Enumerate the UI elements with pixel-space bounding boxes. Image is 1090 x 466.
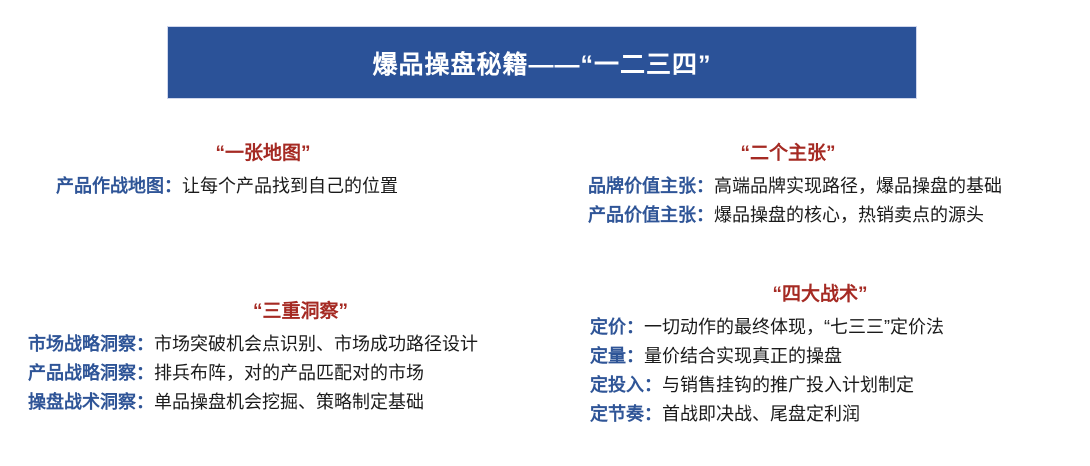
list-item: 定价：一切动作的最终体现，“七三三”定价法 xyxy=(590,313,1090,342)
item-value: 首战即决战、尾盘定利润 xyxy=(662,404,860,424)
list-item: 市场战略洞察：市场突破机会点识别、市场成功路径设计 xyxy=(28,330,548,359)
section-lines-three-insights: 市场战略洞察：市场突破机会点识别、市场成功路径设计 产品战略洞察：排兵布阵，对的… xyxy=(28,330,548,417)
item-label: 产品战略洞察： xyxy=(28,363,154,383)
list-item: 定节奏：首战即决战、尾盘定利润 xyxy=(590,400,1090,429)
item-value: 量价结合实现真正的操盘 xyxy=(644,346,842,366)
item-label: 定价： xyxy=(590,317,644,337)
item-value: 单品操盘机会挖掘、策略制定基础 xyxy=(154,392,424,412)
item-label: 定投入： xyxy=(590,375,662,395)
item-label: 品牌价值主张： xyxy=(588,176,714,196)
item-label: 操盘战术洞察： xyxy=(28,392,154,412)
item-label: 定节奏： xyxy=(590,404,662,424)
item-label: 产品作战地图： xyxy=(56,176,182,196)
item-value: 爆品操盘的核心，热销卖点的源头 xyxy=(714,205,984,225)
item-label: 定量： xyxy=(590,346,644,366)
section-two-claims: “二个主张” 品牌价值主张：高端品牌实现路径，爆品操盘的基础 产品价值主张：爆品… xyxy=(588,142,1088,230)
item-value: 与销售挂钩的推广投入计划制定 xyxy=(662,375,914,395)
section-heading-three-insights: “三重洞察” xyxy=(28,300,573,324)
section-heading-four-tactics: “四大战术” xyxy=(590,283,1050,307)
section-lines-four-tactics: 定价：一切动作的最终体现，“七三三”定价法 定量：量价结合实现真正的操盘 定投入… xyxy=(590,313,1090,429)
section-one-map: “一张地图” 产品作战地图：让每个产品找到自己的位置 xyxy=(28,142,528,201)
list-item: 定量：量价结合实现真正的操盘 xyxy=(590,342,1090,371)
list-item: 品牌价值主张：高端品牌实现路径，爆品操盘的基础 xyxy=(588,172,1088,201)
list-item: 产品战略洞察：排兵布阵，对的产品匹配对的市场 xyxy=(28,359,548,388)
title-banner: 爆品操盘秘籍——“一二三四” xyxy=(167,26,917,99)
section-heading-one-map: “一张地图” xyxy=(28,142,498,166)
list-item: 产品作战地图：让每个产品找到自己的位置 xyxy=(56,172,528,201)
section-four-tactics: “四大战术” 定价：一切动作的最终体现，“七三三”定价法 定量：量价结合实现真正… xyxy=(590,283,1090,429)
list-item: 操盘战术洞察：单品操盘机会挖掘、策略制定基础 xyxy=(28,388,548,417)
section-lines-two-claims: 品牌价值主张：高端品牌实现路径，爆品操盘的基础 产品价值主张：爆品操盘的核心，热… xyxy=(588,172,1088,230)
item-value: 一切动作的最终体现，“七三三”定价法 xyxy=(644,317,944,337)
item-value: 高端品牌实现路径，爆品操盘的基础 xyxy=(714,176,1002,196)
list-item: 定投入：与销售挂钩的推广投入计划制定 xyxy=(590,371,1090,400)
item-value: 市场突破机会点识别、市场成功路径设计 xyxy=(154,334,478,354)
item-label: 市场战略洞察： xyxy=(28,334,154,354)
section-three-insights: “三重洞察” 市场战略洞察：市场突破机会点识别、市场成功路径设计 产品战略洞察：… xyxy=(28,300,548,417)
section-lines-one-map: 产品作战地图：让每个产品找到自己的位置 xyxy=(28,172,528,201)
page-title: 爆品操盘秘籍——“一二三四” xyxy=(372,45,711,81)
item-value: 排兵布阵，对的产品匹配对的市场 xyxy=(154,363,424,383)
item-label: 产品价值主张： xyxy=(588,205,714,225)
item-value: 让每个产品找到自己的位置 xyxy=(182,176,398,196)
list-item: 产品价值主张：爆品操盘的核心，热销卖点的源头 xyxy=(588,201,1088,230)
section-heading-two-claims: “二个主张” xyxy=(588,142,988,166)
